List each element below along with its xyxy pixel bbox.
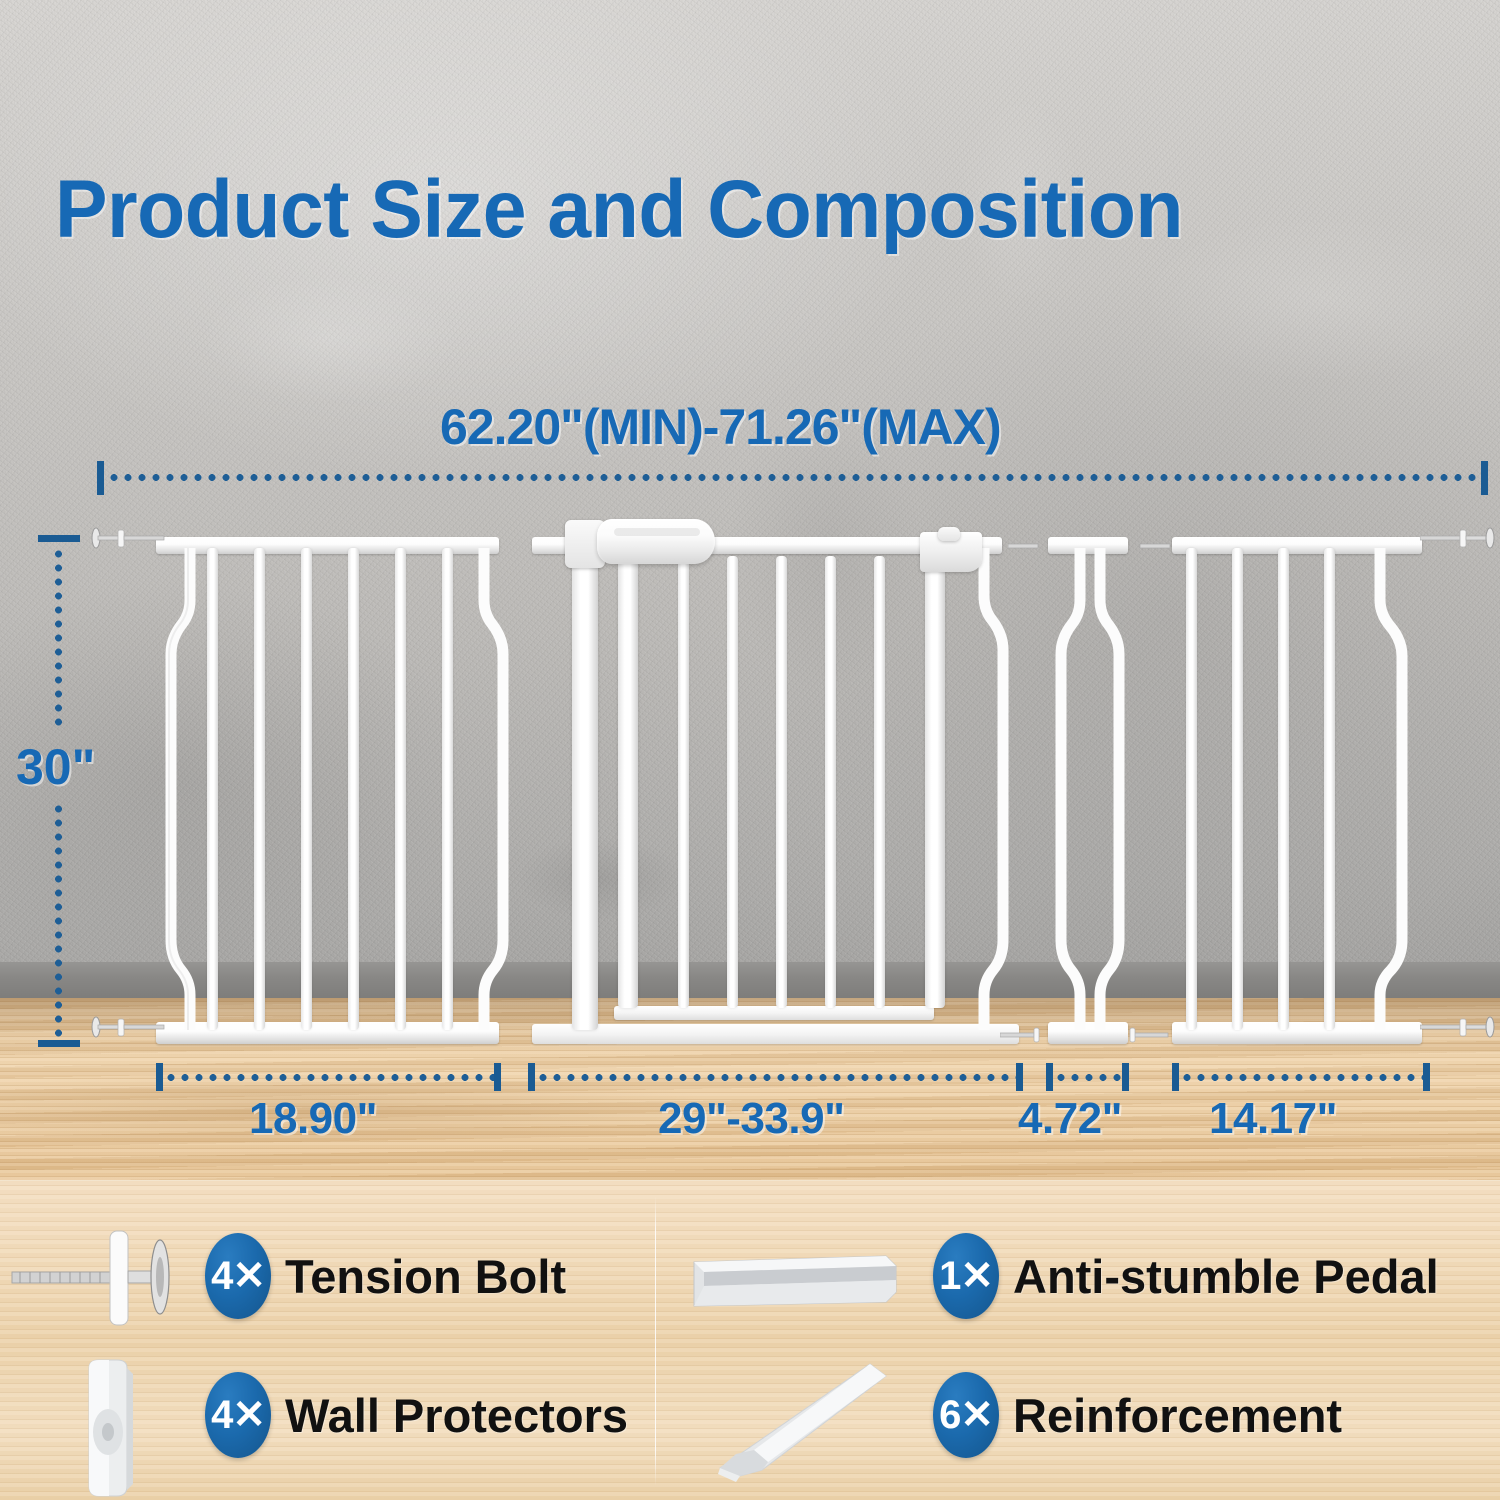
latch-button[interactable]: [938, 527, 960, 541]
seg3-label: 4.72": [1018, 1094, 1122, 1144]
tension-bolt-icon: [88, 525, 166, 551]
safety-gate-illustration: [0, 0, 1500, 1080]
anti-stumble-pedal-icon: [690, 1240, 900, 1320]
left-panel-bar: [442, 548, 453, 1030]
multiplier-symbol: ✕: [960, 1392, 993, 1438]
door-panel-hinge-post: [618, 556, 638, 1008]
tension-bolt-icon: [1008, 538, 1052, 554]
accessory-item-wall-protectors: 4✕ Wall Protectors: [205, 1372, 628, 1458]
left-panel-bar: [348, 548, 359, 1030]
door-panel-latch-post: [925, 556, 945, 1008]
accessory-label-anti-stumble-pedal: Anti-stumble Pedal: [1013, 1249, 1439, 1304]
door-panel-right-curved-post: [978, 548, 1012, 1030]
accessory-label-wall-protectors: Wall Protectors: [285, 1388, 628, 1443]
seg3-left-cap: [1046, 1063, 1053, 1091]
seg2-right-cap: [1016, 1063, 1023, 1091]
seg4-right-cap: [1423, 1063, 1430, 1091]
door-panel-bar: [727, 556, 738, 1008]
quantity-badge-anti-stumble-pedal: 1✕: [933, 1233, 999, 1319]
quantity-value: 4: [211, 1393, 232, 1438]
door-handle-groove: [614, 528, 700, 536]
right-panel-bar: [1186, 548, 1197, 1030]
left-panel-bar: [395, 548, 406, 1030]
seg1-right-cap: [494, 1063, 501, 1091]
accessory-column-divider: [655, 1196, 656, 1486]
left-panel-left-curved-post: [162, 548, 196, 1030]
seg1-dim-line: [164, 1074, 494, 1081]
left-panel-bar: [207, 548, 218, 1030]
door-panel-bar: [825, 556, 836, 1008]
tension-bolt-icon: [10, 1222, 190, 1332]
multiplier-symbol: ✕: [232, 1253, 265, 1299]
right-panel-bar: [1324, 548, 1335, 1030]
multiplier-symbol: ✕: [960, 1253, 993, 1299]
door-handle[interactable]: [597, 519, 715, 564]
door-panel-bar: [776, 556, 787, 1008]
quantity-value: 6: [939, 1393, 960, 1438]
tension-bolt-icon: [1128, 538, 1172, 554]
reinforcement-icon: [700, 1350, 900, 1490]
seg2-left-cap: [528, 1063, 535, 1091]
seg1-label: 18.90": [249, 1094, 377, 1144]
door-panel-bar: [874, 556, 885, 1008]
tension-bolt-icon: [1420, 525, 1498, 551]
tension-bolt-icon: [1420, 1014, 1498, 1040]
accessory-item-anti-stumble-pedal: 1✕ Anti-stumble Pedal: [933, 1233, 1439, 1319]
quantity-badge-tension-bolt: 4✕: [205, 1233, 271, 1319]
left-panel-bar: [254, 548, 265, 1030]
quantity-badge-wall-protectors: 4✕: [205, 1372, 271, 1458]
seg1-left-cap: [156, 1063, 163, 1091]
tension-bolt-icon: [1000, 1024, 1060, 1046]
seg2-dim-line: [536, 1074, 1016, 1081]
door-panel-left-frame-post: [572, 548, 598, 1030]
wall-protector-icon: [75, 1358, 145, 1500]
right-panel-right-curved-post: [1374, 548, 1414, 1030]
seg3-dim-line: [1054, 1074, 1122, 1081]
left-panel-right-curved-post: [478, 548, 512, 1030]
seg4-label: 14.17": [1209, 1094, 1337, 1144]
anti-stumble-pedal-rail: [532, 1024, 1019, 1044]
accessory-label-tension-bolt: Tension Bolt: [285, 1249, 566, 1304]
seg4-left-cap: [1172, 1063, 1179, 1091]
accessory-item-tension-bolt: 4✕ Tension Bolt: [205, 1233, 566, 1319]
quantity-value: 1: [939, 1254, 960, 1299]
small-panel-right-curved-post: [1094, 548, 1128, 1030]
quantity-value: 4: [211, 1254, 232, 1299]
multiplier-symbol: ✕: [232, 1392, 265, 1438]
right-panel-bar: [1278, 548, 1289, 1030]
door-inner-bottom-rail: [614, 1006, 934, 1020]
door-panel-bar: [678, 556, 689, 1008]
small-panel-left-curved-post: [1052, 548, 1086, 1030]
tension-bolt-icon: [1120, 1024, 1180, 1046]
seg3-right-cap: [1122, 1063, 1129, 1091]
tension-bolt-icon: [88, 1014, 166, 1040]
accessory-label-reinforcement: Reinforcement: [1013, 1388, 1342, 1443]
accessory-item-reinforcement: 6✕ Reinforcement: [933, 1372, 1342, 1458]
seg2-label: 29"-33.9": [658, 1094, 844, 1144]
quantity-badge-reinforcement: 6✕: [933, 1372, 999, 1458]
left-panel-bar: [301, 548, 312, 1030]
right-panel-bar: [1232, 548, 1243, 1030]
seg4-dim-line: [1180, 1074, 1423, 1081]
